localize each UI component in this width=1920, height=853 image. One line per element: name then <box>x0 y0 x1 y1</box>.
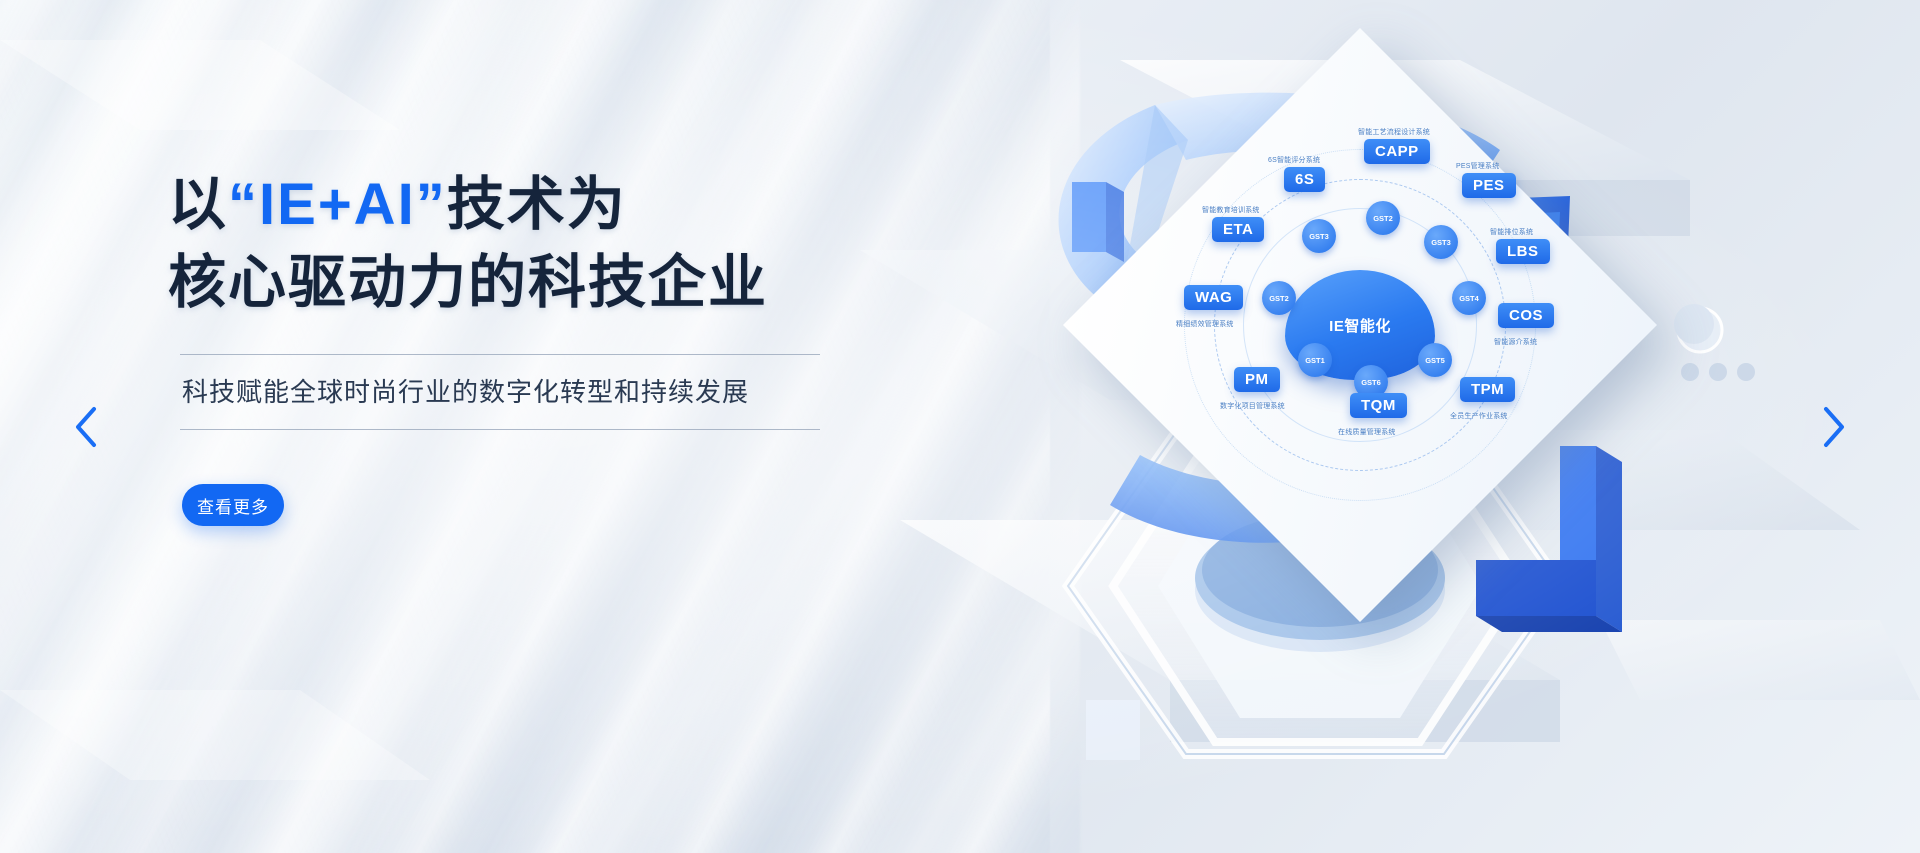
ring-node: GST4 <box>1452 281 1486 315</box>
page-title-line2: 核心驱动力的科技企业 <box>168 246 868 320</box>
carousel-prev-button[interactable] <box>62 403 110 451</box>
chevron-left-icon <box>71 404 101 450</box>
headline-quote-close: ” <box>416 172 447 237</box>
chevron-right-icon <box>1819 404 1849 450</box>
node-caption: 智能工艺流程设计系统 <box>1358 127 1430 137</box>
node-caption: 全员生产作业系统 <box>1450 411 1508 421</box>
ring-node: GST5 <box>1418 343 1452 377</box>
node-lbs: LBS <box>1496 239 1550 264</box>
node-caption: 精细绩效管理系统 <box>1176 319 1234 329</box>
hero-content: 以“IE+AI”技术为 核心驱动力的科技企业 科技赋能全球时尚行业的数字化转型和… <box>168 168 868 526</box>
node-6s: 6S <box>1284 167 1325 192</box>
ring-node: GST1 <box>1298 343 1332 377</box>
node-cos: COS <box>1498 303 1554 328</box>
hero-banner: IE智能化 GST1 GST2 GST3 GST3 GST2 GST4 GST5… <box>0 0 1920 853</box>
node-pes: PES <box>1462 173 1516 198</box>
ring-node: GST3 <box>1302 219 1336 253</box>
ring-node: GST2 <box>1262 281 1296 315</box>
node-caption: 数字化项目管理系统 <box>1220 401 1285 411</box>
ring-node: GST3 <box>1424 225 1458 259</box>
diagram-core-label: IE智能化 <box>1329 315 1391 336</box>
divider-bottom <box>180 429 820 430</box>
diagram-card: IE智能化 GST1 GST2 GST3 GST3 GST2 GST4 GST5… <box>1063 28 1657 622</box>
ring-node: GST2 <box>1366 201 1400 235</box>
node-caption: 智能教育培训系统 <box>1202 205 1260 215</box>
headline-quote-open: “ <box>228 172 259 237</box>
node-pm: PM <box>1234 367 1280 392</box>
hero-subtitle: 科技赋能全球时尚行业的数字化转型和持续发展 <box>168 355 868 429</box>
hero-illustration: IE智能化 GST1 GST2 GST3 GST3 GST2 GST4 GST5… <box>1070 60 1870 760</box>
node-eta: ETA <box>1212 217 1264 242</box>
divider-top <box>180 354 820 355</box>
node-wag: WAG <box>1184 285 1243 310</box>
node-caption: 在线质量管理系统 <box>1338 427 1396 437</box>
headline-post: 技术为 <box>447 172 627 237</box>
node-caption: 智能排位系统 <box>1490 227 1533 237</box>
carousel-next-button[interactable] <box>1810 403 1858 451</box>
node-caption: 智能源介系统 <box>1494 337 1537 347</box>
node-tqm: TQM <box>1350 393 1407 418</box>
headline-pre: 以 <box>168 172 228 237</box>
node-caption: 6S智能评分系统 <box>1268 155 1320 165</box>
page-title: 以“IE+AI”技术为 <box>168 168 868 242</box>
diagram-content: IE智能化 GST1 GST2 GST3 GST3 GST2 GST4 GST5… <box>1150 115 1570 535</box>
headline-accent: IE+AI <box>259 172 416 237</box>
node-capp: CAPP <box>1364 139 1430 164</box>
node-tpm: TPM <box>1460 377 1515 402</box>
node-caption: PES管理系统 <box>1456 161 1499 171</box>
view-more-button[interactable]: 查看更多 <box>182 484 284 526</box>
